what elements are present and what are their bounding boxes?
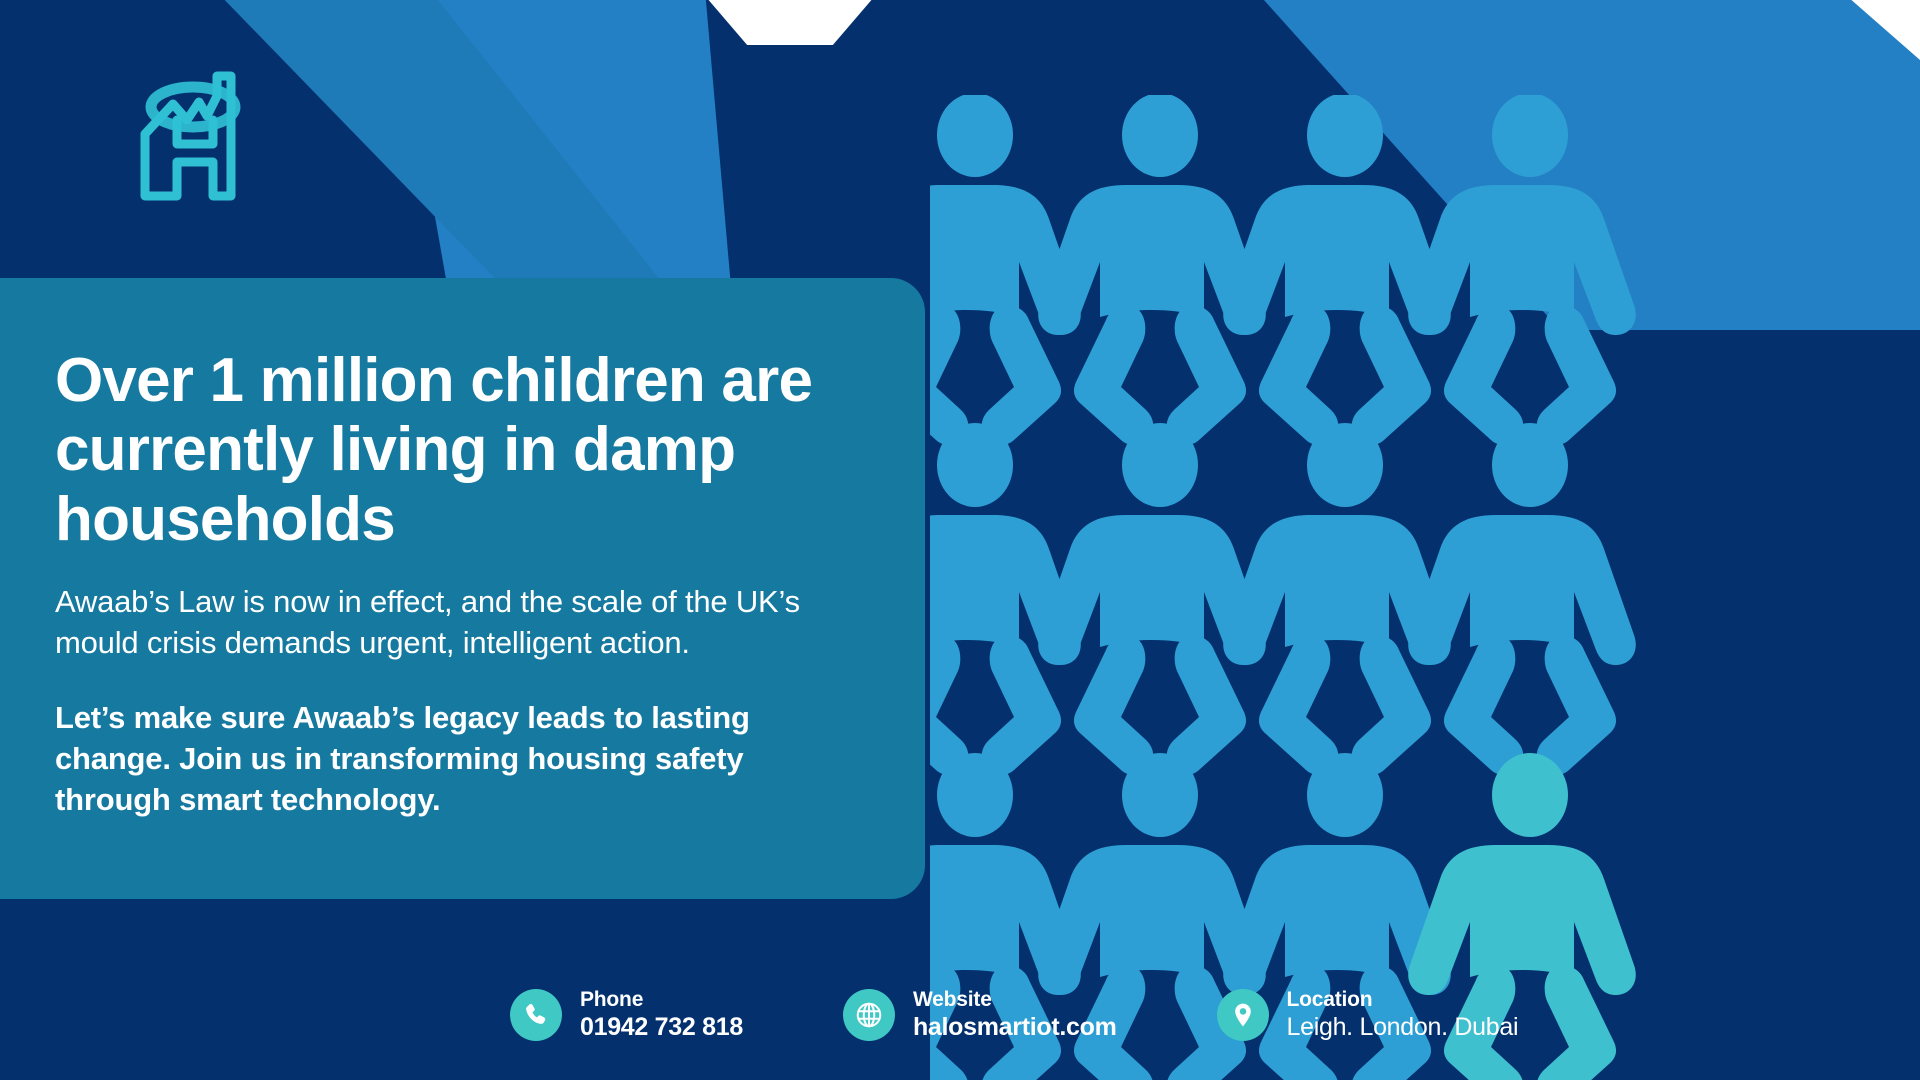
child-figure-icon xyxy=(1038,95,1266,445)
child-figure-icon xyxy=(1223,423,1451,775)
contact-website[interactable]: Website halosmartiot.com xyxy=(843,988,1117,1042)
contact-value: 01942 732 818 xyxy=(580,1013,743,1043)
child-figure-icon xyxy=(1038,423,1266,775)
lede-paragraph: Awaab’s Law is now in effect, and the sc… xyxy=(55,582,865,664)
contact-label: Location xyxy=(1287,988,1519,1013)
contact-location[interactable]: Location Leigh. London. Dubai xyxy=(1217,988,1519,1042)
poster-canvas: Over 1 million children are currently li… xyxy=(0,0,1920,1080)
contact-value: Leigh. London. Dubai xyxy=(1287,1013,1519,1043)
cta-paragraph: Let’s make sure Awaab’s legacy leads to … xyxy=(55,698,865,821)
halo-house-logo-icon xyxy=(125,62,265,212)
child-figure-icon xyxy=(1408,423,1636,775)
child-figure-icon xyxy=(1408,95,1636,445)
contact-phone[interactable]: Phone 01942 732 818 xyxy=(510,988,743,1042)
children-pictogram-grid xyxy=(930,95,1920,1080)
message-card: Over 1 million children are currently li… xyxy=(0,278,925,899)
phone-icon xyxy=(510,989,562,1041)
globe-icon xyxy=(843,989,895,1041)
contact-label: Website xyxy=(913,988,1117,1013)
child-figure-icon xyxy=(1223,95,1451,445)
contact-bar: Phone 01942 732 818 Website halosmartiot… xyxy=(510,988,1518,1042)
contact-value: halosmartiot.com xyxy=(913,1013,1117,1043)
contact-label: Phone xyxy=(580,988,743,1013)
location-pin-icon xyxy=(1217,989,1269,1041)
page-title: Over 1 million children are currently li… xyxy=(55,346,865,554)
